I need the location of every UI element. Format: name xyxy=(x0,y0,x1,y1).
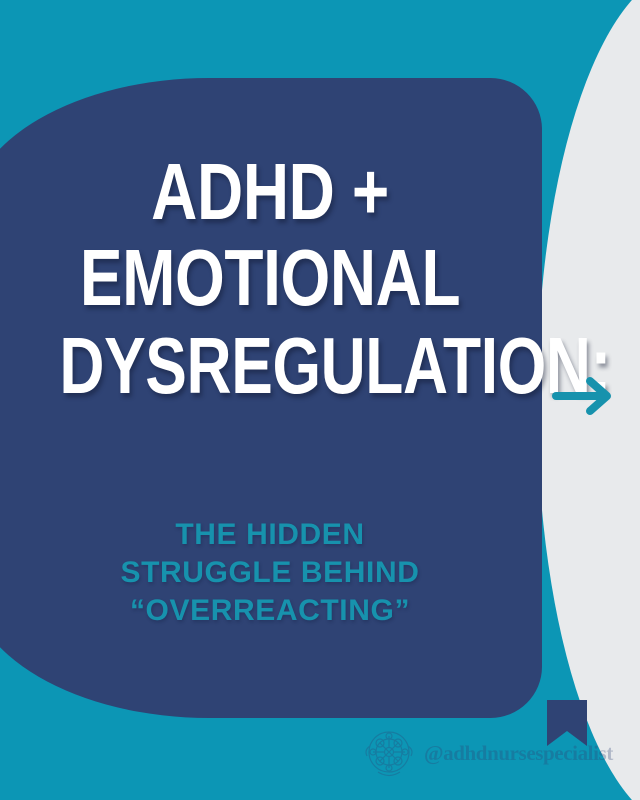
brain-network-logo-icon xyxy=(358,722,420,784)
slide-canvas: ADHD + EMOTIONAL DYSREGULATION: THE HIDD… xyxy=(0,0,640,800)
next-slide-arrow-icon[interactable] xyxy=(552,374,614,418)
save-bookmark-icon[interactable] xyxy=(545,698,589,748)
navy-content-card xyxy=(0,78,542,718)
